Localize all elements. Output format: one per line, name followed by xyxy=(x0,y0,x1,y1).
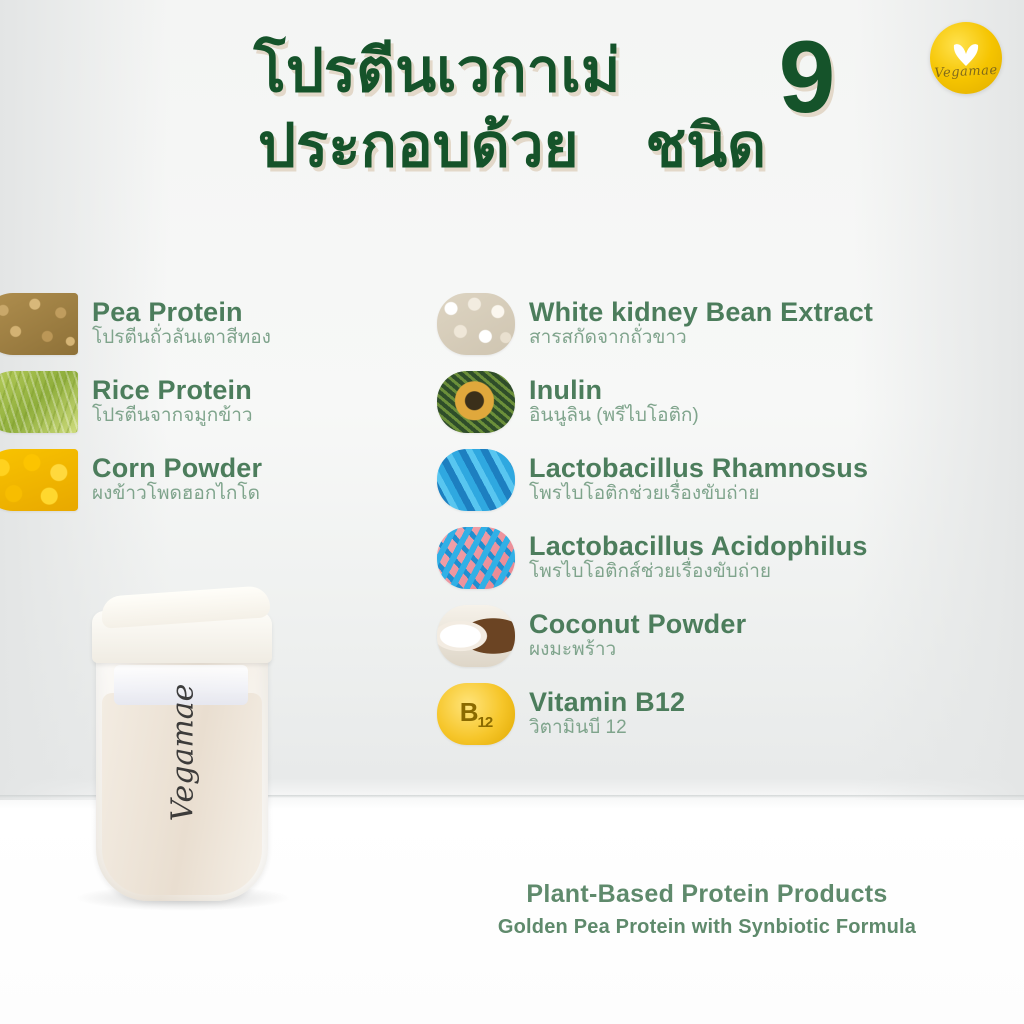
ingredient-name-th: โพรไบโอติกช่วยเรื่องขับถ่าย xyxy=(529,483,868,506)
footer-main-text: Plant-Based Protein Products xyxy=(420,880,994,909)
ingredient-name-en: Inulin xyxy=(529,376,699,404)
bottle-wordmark: Vegamae xyxy=(166,684,201,822)
headline-unit: ชนิด xyxy=(645,112,766,179)
ingredient-item: Inulin อินนูลิน (พรีไบโอติก) xyxy=(437,366,997,438)
ingredient-name-th: วิตามินบี 12 xyxy=(529,717,685,740)
white-beans-photo xyxy=(437,293,515,355)
product-shaker-bottle: Vegamae xyxy=(88,585,278,905)
ingredient-item: Lactobacillus Acidophilus โพรไบโอติกส์ช่… xyxy=(437,522,997,594)
ingredient-name-en: Coconut Powder xyxy=(529,610,746,638)
corn-kernels-photo xyxy=(0,449,78,511)
b12-capsule-label: B12 xyxy=(460,697,492,731)
ingredient-name-th: โพรไบโอติกส์ช่วยเรื่องขับถ่าย xyxy=(529,561,868,584)
ingredient-name-th: อินนูลิน (พรีไบโอติก) xyxy=(529,405,699,428)
ingredient-name-th: ผงข้าวโพดฮอกไกโด xyxy=(92,483,262,506)
pink-bacteria-photo xyxy=(437,527,515,589)
ingredient-name-th: โปรตีนจากจมูกข้าว xyxy=(92,405,253,428)
ingredient-item: White kidney Bean Extract สารสกัดจากถั่ว… xyxy=(437,288,997,360)
headline-line-2: ประกอบด้วย ชนิด xyxy=(0,115,1024,176)
headline-line-1-text: โปรตีนเวกาเม่ xyxy=(254,37,621,104)
blue-bacteria-photo xyxy=(437,449,515,511)
coconut-photo xyxy=(437,605,515,667)
b12-capsule-icon: B12 xyxy=(437,683,515,745)
ingredient-item: Rice Protein โปรตีนจากจมูกข้าว xyxy=(0,366,400,438)
ingredient-name-en: Corn Powder xyxy=(92,454,262,482)
ingredient-name-th: ผงมะพร้าว xyxy=(529,639,746,662)
ingredient-name-en: White kidney Bean Extract xyxy=(529,298,873,326)
ingredient-item: Pea Protein โปรตีนถั่วลันเตาสีทอง xyxy=(0,288,400,360)
chicory-root-photo xyxy=(437,371,515,433)
ingredient-item: B12 Vitamin B12 วิตามินบี 12 xyxy=(437,678,997,750)
ingredient-name-en: Rice Protein xyxy=(92,376,253,404)
ingredient-column-right: White kidney Bean Extract สารสกัดจากถั่ว… xyxy=(437,288,997,756)
ingredient-name-en: Lactobacillus Rhamnosus xyxy=(529,454,868,482)
page-title: โปรตีนเวกาเม่ 9 ประกอบด้วย ชนิด xyxy=(0,40,1024,176)
pea-seeds-photo xyxy=(0,293,78,355)
headline-count: 9 xyxy=(779,26,836,128)
footer-sub-text: Golden Pea Protein with Synbiotic Formul… xyxy=(420,916,994,939)
ingredient-item: Lactobacillus Rhamnosus โพรไบโอติกช่วยเร… xyxy=(437,444,997,516)
ingredient-item: Coconut Powder ผงมะพร้าว xyxy=(437,600,997,672)
footer-tagline: Plant-Based Protein Products Golden Pea … xyxy=(420,880,994,939)
ingredient-name-en: Pea Protein xyxy=(92,298,271,326)
ingredient-name-th: โปรตีนถั่วลันเตาสีทอง xyxy=(92,327,271,350)
ingredient-name-th: สารสกัดจากถั่วขาว xyxy=(529,327,873,350)
ingredient-column-left: Pea Protein โปรตีนถั่วลันเตาสีทอง Rice P… xyxy=(0,288,400,522)
headline-line-1: โปรตีนเวกาเม่ 9 xyxy=(0,40,1024,101)
rice-plant-photo xyxy=(0,371,78,433)
poster-canvas: Vegamae โปรตีนเวกาเม่ 9 ประกอบด้วย ชนิด … xyxy=(0,0,1024,1024)
ingredient-name-en: Vitamin B12 xyxy=(529,688,685,716)
ingredient-item: Corn Powder ผงข้าวโพดฮอกไกโด xyxy=(0,444,400,516)
ingredient-name-en: Lactobacillus Acidophilus xyxy=(529,532,868,560)
headline-line-2-text: ประกอบด้วย xyxy=(258,112,579,179)
